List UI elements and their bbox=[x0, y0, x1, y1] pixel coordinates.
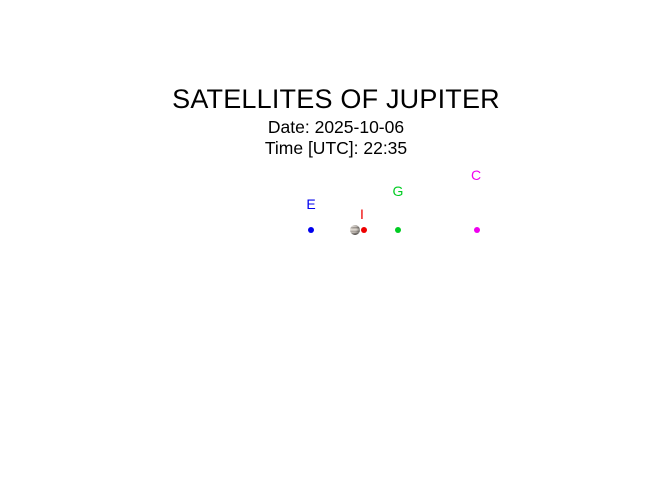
moon-marker-io bbox=[361, 227, 367, 233]
satellites-of-jupiter-view: SATELLITES OF JUPITER Date: 2025-10-06 T… bbox=[0, 0, 672, 480]
moon-label-ganymede: G bbox=[393, 184, 404, 198]
jupiter-disk bbox=[350, 225, 360, 235]
moon-label-io: I bbox=[360, 207, 364, 221]
moon-label-europa: E bbox=[306, 197, 315, 211]
sky-plot-area: EIGC bbox=[0, 0, 672, 480]
moon-marker-callisto bbox=[474, 227, 480, 233]
moon-marker-europa bbox=[308, 227, 314, 233]
moon-marker-ganymede bbox=[395, 227, 401, 233]
moon-label-callisto: C bbox=[471, 168, 481, 182]
